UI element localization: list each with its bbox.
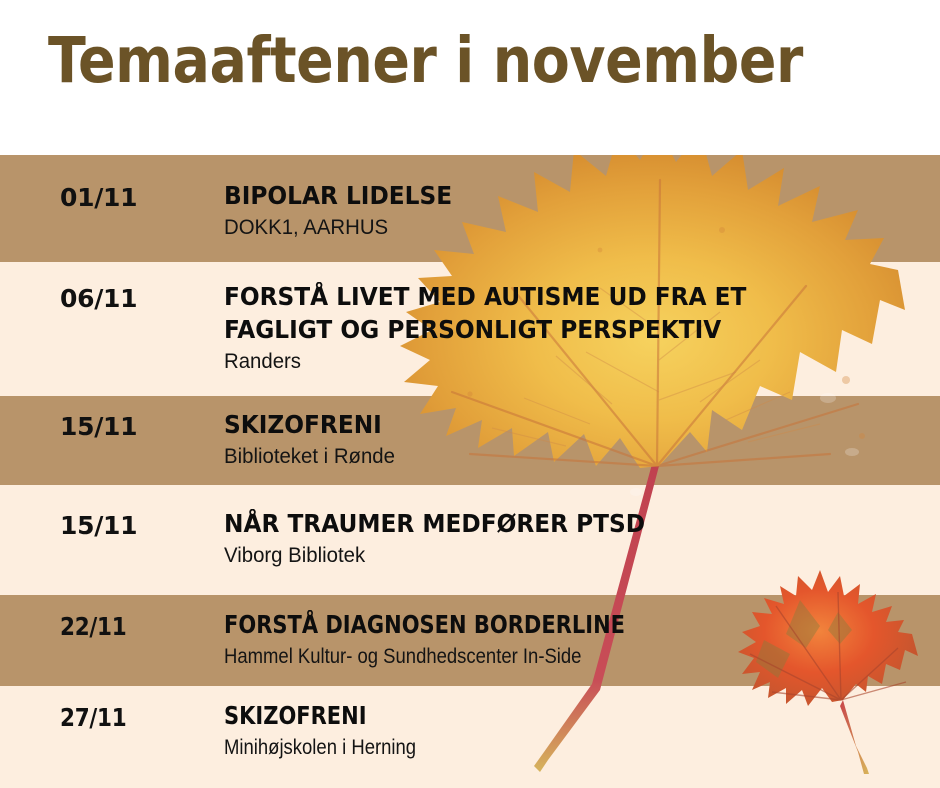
event-venue: Minihøjskolen i Herning [224, 734, 847, 761]
event-date: 22/11 [60, 612, 126, 641]
event-title: BIPOLAR LIDELSE [224, 179, 882, 212]
event-date: 15/11 [60, 412, 137, 441]
event-details: SKIZOFRENI Biblioteket i Rønde [224, 408, 932, 470]
event-date: 15/11 [60, 511, 137, 540]
event-row: 15/11 NÅR TRAUMER MEDFØRER PTSD Viborg B… [0, 485, 940, 595]
event-title: FORSTÅ DIAGNOSEN BORDERLINE [224, 608, 819, 641]
event-venue: Viborg Bibliotek [224, 542, 911, 569]
event-title: SKIZOFRENI [224, 408, 882, 441]
title-area: Temaaftener i november [0, 0, 940, 155]
event-date: 06/11 [60, 284, 137, 313]
event-title: FORSTÅ LIVET MED AUTISME UD FRA ET FAGLI… [224, 280, 778, 346]
event-row: 22/11 FORSTÅ DIAGNOSEN BORDERLINE Hammel… [0, 595, 940, 686]
event-venue: Hammel Kultur- og Sundhedscenter In-Side [224, 643, 847, 670]
event-poster: Temaaftener i november 01/11 BIPOLAR LID… [0, 0, 940, 788]
event-row: 27/11 SKIZOFRENI Minihøjskolen i Herning [0, 686, 940, 788]
event-date: 27/11 [60, 703, 126, 732]
page-title: Temaaftener i november [48, 28, 803, 94]
event-details: NÅR TRAUMER MEDFØRER PTSD Viborg Bibliot… [224, 507, 932, 569]
event-details: SKIZOFRENI Minihøjskolen i Herning [224, 699, 932, 761]
event-venue: Randers [224, 348, 802, 375]
event-row: 01/11 BIPOLAR LIDELSE DOKK1, AARHUS [0, 155, 940, 262]
event-details: BIPOLAR LIDELSE DOKK1, AARHUS [224, 179, 932, 241]
event-date: 01/11 [60, 183, 137, 212]
event-venue: DOKK1, AARHUS [224, 214, 911, 241]
event-row: 06/11 FORSTÅ LIVET MED AUTISME UD FRA ET… [0, 262, 940, 396]
event-details: FORSTÅ LIVET MED AUTISME UD FRA ET FAGLI… [224, 280, 820, 375]
event-row: 15/11 SKIZOFRENI Biblioteket i Rønde [0, 396, 940, 485]
event-title: SKIZOFRENI [224, 699, 819, 732]
event-venue: Biblioteket i Rønde [224, 443, 911, 470]
event-title: NÅR TRAUMER MEDFØRER PTSD [224, 507, 882, 540]
event-details: FORSTÅ DIAGNOSEN BORDERLINE Hammel Kultu… [224, 608, 932, 670]
